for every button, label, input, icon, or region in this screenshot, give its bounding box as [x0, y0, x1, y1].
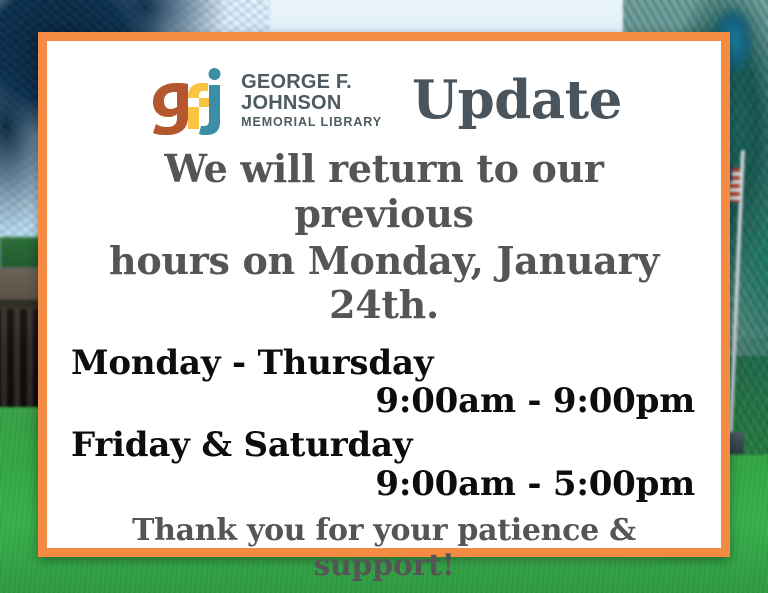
announcement-text: We will return to our previous hours on …: [71, 147, 697, 328]
hours-group-weekday: Monday - Thursday 9:00am - 9:00pm: [71, 344, 697, 420]
hours-group-weekend: Friday & Saturday 9:00am - 5:00pm: [71, 426, 697, 502]
announcement-poster: GEORGE F. JOHNSON MEMORIAL LIBRARY Updat…: [0, 0, 768, 593]
logo-line-johnson: JOHNSON: [241, 93, 382, 113]
thank-you-message: Thank you for your patience & support!: [71, 513, 697, 583]
hours-days-weekday: Monday - Thursday: [71, 344, 697, 382]
gfj-monogram-icon: [146, 65, 232, 135]
page-title: Update: [412, 74, 622, 127]
logo-wordmark: GEORGE F. JOHNSON MEMORIAL LIBRARY: [241, 72, 382, 129]
hours-list: Monday - Thursday 9:00am - 9:00pm Friday…: [71, 344, 697, 508]
notice-card: GEORGE F. JOHNSON MEMORIAL LIBRARY Updat…: [38, 32, 730, 557]
logo-line-george: GEORGE F.: [241, 72, 382, 92]
card-header: GEORGE F. JOHNSON MEMORIAL LIBRARY Updat…: [71, 65, 697, 135]
announcement-line-1: We will return to our previous: [71, 147, 697, 237]
hours-time-weekday: 9:00am - 9:00pm: [71, 382, 697, 420]
announcement-line-2: hours on Monday, January 24th.: [71, 239, 697, 329]
hours-time-weekend: 9:00am - 5:00pm: [71, 465, 697, 503]
logo-line-memorial-library: MEMORIAL LIBRARY: [241, 116, 382, 129]
hours-days-weekend: Friday & Saturday: [71, 426, 697, 464]
library-logo: GEORGE F. JOHNSON MEMORIAL LIBRARY: [146, 65, 382, 135]
